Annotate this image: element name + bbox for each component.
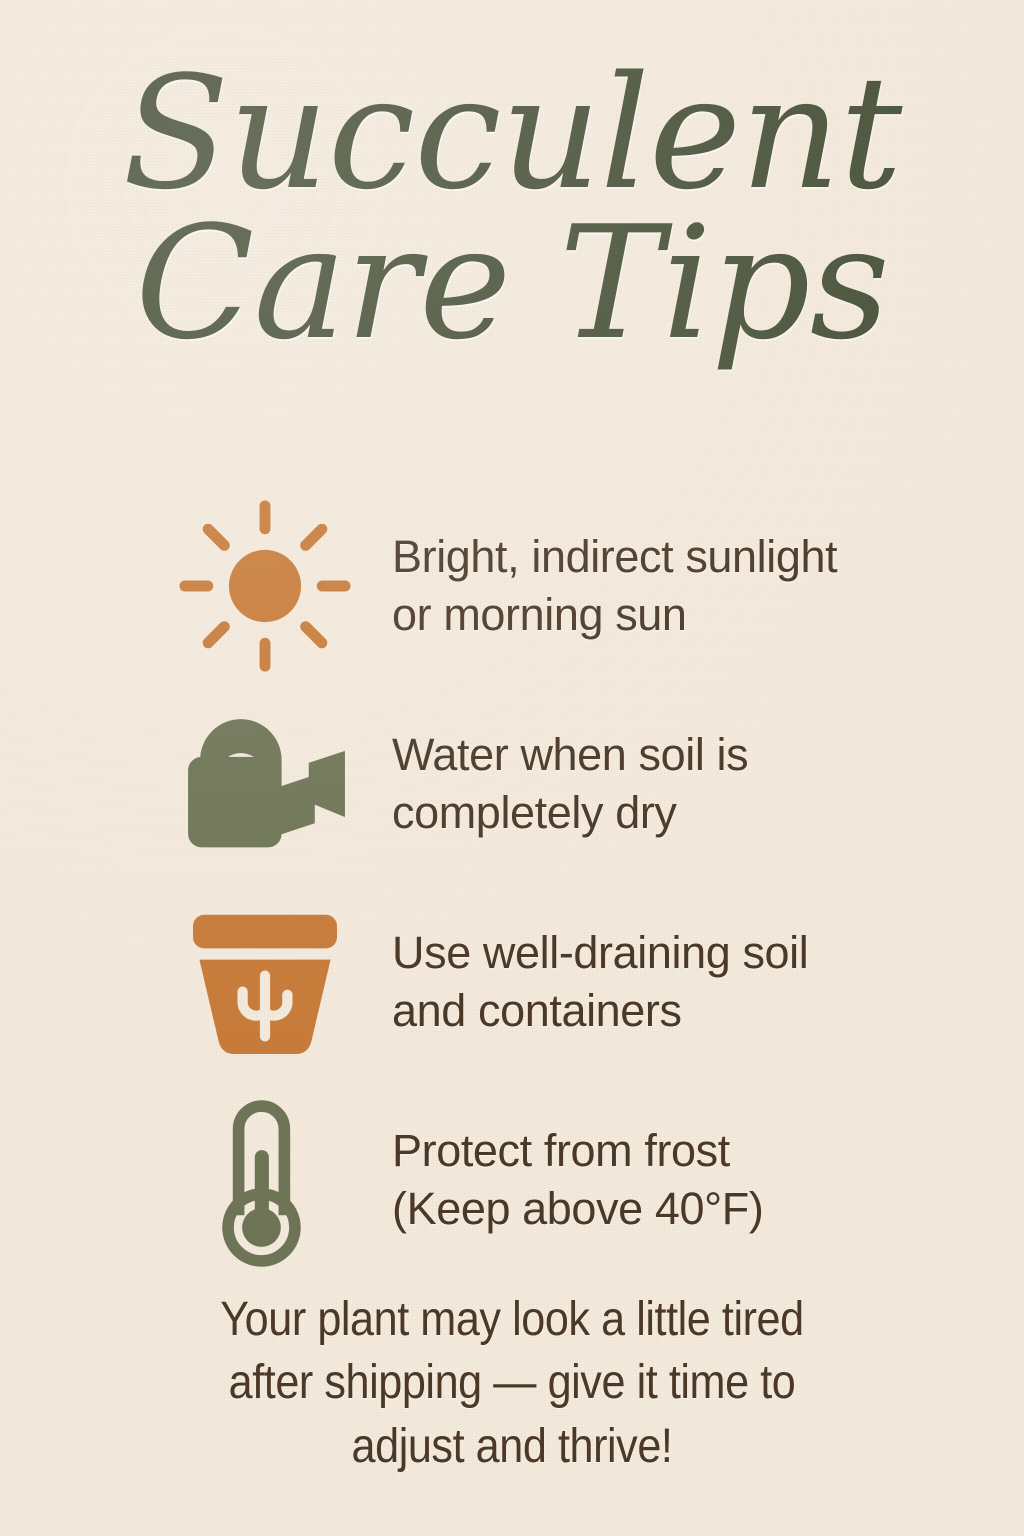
tip-line-1: Water when soil is: [392, 726, 748, 784]
tip-line-1: Use well-draining soil: [392, 924, 808, 982]
tip-row-frost: Protect from frost (Keep above 40°F): [0, 1081, 1024, 1279]
footer-line-1: Your plant may look a little tired: [51, 1288, 973, 1351]
tip-line-2: and containers: [392, 982, 808, 1040]
sun-icon: [140, 496, 390, 676]
footer-line-2: after shipping — give it time to: [51, 1351, 973, 1414]
tip-line-2: or morning sun: [392, 586, 837, 644]
tip-text-soil: Use well-draining soil and containers: [392, 924, 808, 1039]
page-title-line-2: Care Tips: [0, 212, 1024, 356]
tip-line-1: Bright, indirect sunlight: [392, 528, 837, 586]
thermometer-icon: [140, 1090, 390, 1270]
tip-line-2: (Keep above 40°F): [392, 1180, 763, 1238]
watering-can-icon: [140, 694, 390, 874]
footer-line-3: adjust and thrive!: [51, 1415, 973, 1478]
succulent-care-tips-poster: Succulent Care Tips: [0, 0, 1024, 1536]
plant-pot-icon: [140, 892, 390, 1072]
tip-row-soil: Use well-draining soil and containers: [0, 883, 1024, 1081]
tip-text-sunlight: Bright, indirect sunlight or morning sun: [392, 528, 837, 643]
care-tips-list: Bright, indirect sunlight or morning sun: [0, 487, 1024, 1279]
footer-note: Your plant may look a little tired after…: [51, 1288, 973, 1478]
tip-line-2: completely dry: [392, 784, 748, 842]
tip-line-1: Protect from frost: [392, 1122, 763, 1180]
tip-row-sunlight: Bright, indirect sunlight or morning sun: [0, 487, 1024, 685]
tip-text-frost: Protect from frost (Keep above 40°F): [392, 1122, 763, 1237]
page-title: Succulent Care Tips: [0, 62, 1024, 355]
tip-row-watering: Water when soil is completely dry: [0, 685, 1024, 883]
tip-text-watering: Water when soil is completely dry: [392, 726, 748, 841]
page-title-line-1: Succulent: [0, 62, 1024, 206]
